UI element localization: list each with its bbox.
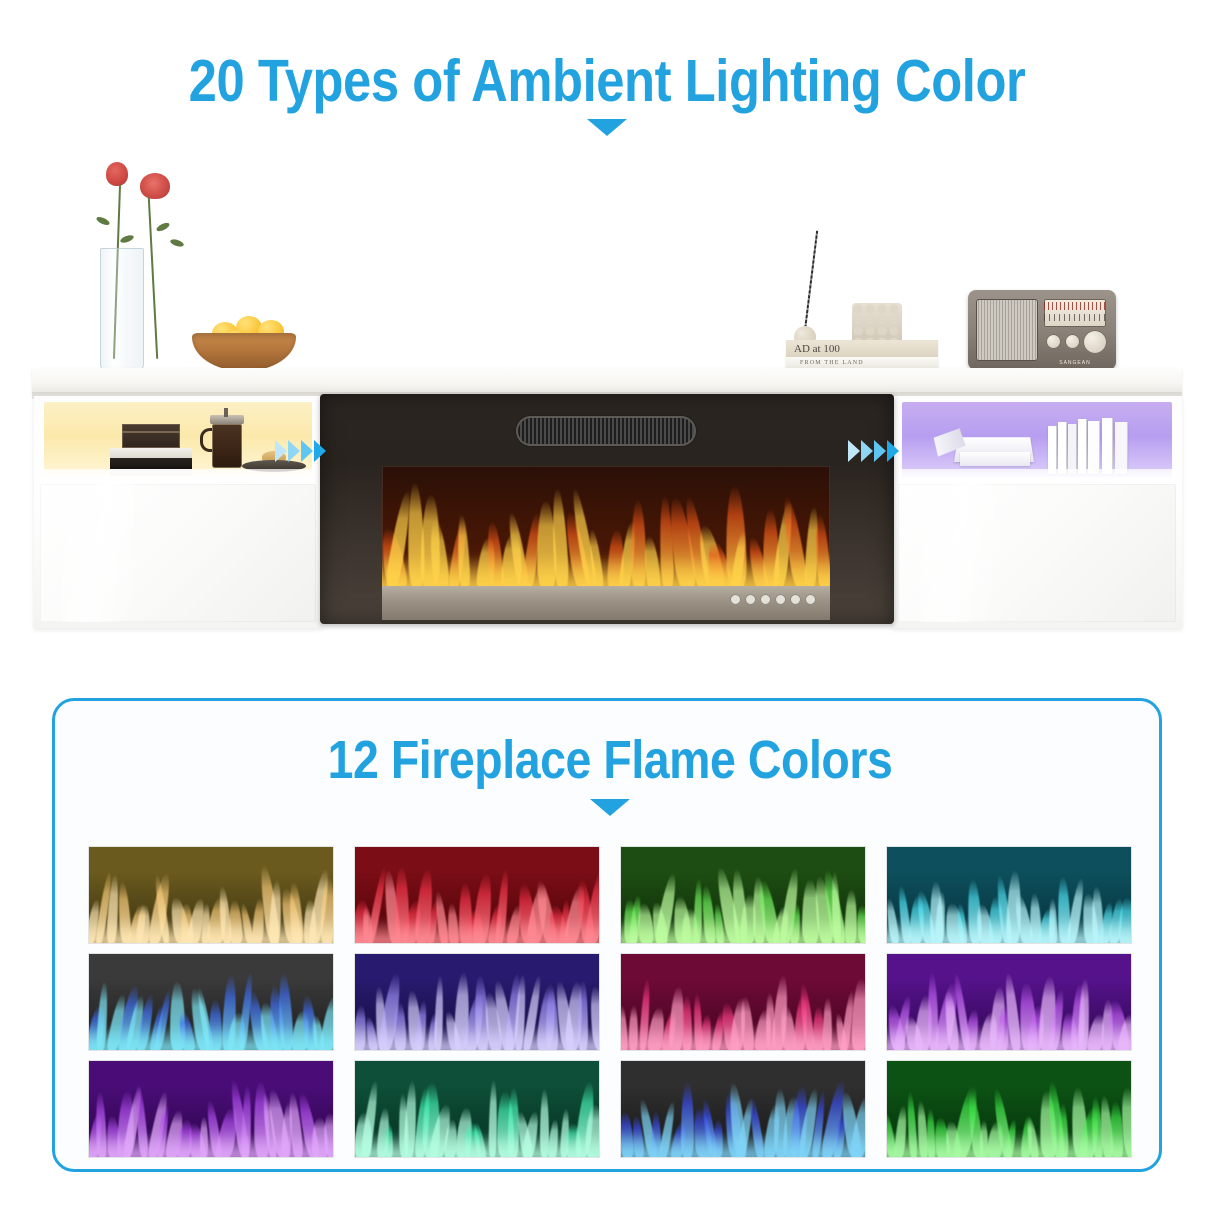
- glass-vase: [100, 248, 144, 370]
- radio-dial-scale-am: [1044, 314, 1106, 321]
- product-photo: AD at 100 FROM THE LAND SANGEAN: [0, 140, 1214, 660]
- led-arrows-right: [848, 440, 899, 462]
- fireplace-control-button[interactable]: [805, 594, 816, 605]
- cubby-left-led-shelf: [44, 402, 312, 478]
- page-title-ambient-lighting: 20 Types of Ambient Lighting Color: [85, 48, 1129, 114]
- decorative-storage-box: [122, 424, 180, 448]
- caret-down-icon: [590, 799, 630, 816]
- cabinet-left-door[interactable]: [40, 484, 316, 622]
- leaf-icon: [119, 234, 134, 244]
- electric-fireplace-insert[interactable]: [320, 394, 894, 624]
- flame-swatch: Red: [355, 847, 599, 943]
- chevron-right-icon: [314, 440, 326, 462]
- book-title-from-the-land: FROM THE LAND: [786, 357, 938, 366]
- leaf-icon: [169, 238, 184, 248]
- flame-swatch: Mint Green: [355, 1061, 599, 1157]
- radio-dial-scale-fm: [1044, 302, 1106, 310]
- radio-tuning-display: [1044, 299, 1106, 327]
- radio-knob-tuning[interactable]: [1083, 330, 1107, 354]
- rose-bloom-icon: [140, 173, 170, 199]
- flame-colors-panel: 12 Fireplace Flame Colors Amber GoldRedG…: [52, 698, 1162, 1172]
- rose-bud-icon: [106, 162, 128, 186]
- flame-animation: [621, 847, 865, 943]
- flame-animation: [887, 954, 1131, 1050]
- flame-base-glow: [621, 1026, 865, 1050]
- flame-animation: [887, 1061, 1131, 1157]
- fireplace-log-bed: [382, 586, 830, 620]
- leaf-icon: [155, 221, 170, 233]
- fireplace-flame-window: [382, 466, 830, 588]
- cabinet-right-door[interactable]: [898, 484, 1176, 622]
- led-arrows-left: [275, 440, 326, 462]
- cabinet-right: [892, 396, 1182, 628]
- chevron-right-icon: [275, 440, 287, 462]
- chevron-right-icon: [861, 440, 873, 462]
- fireplace-control-button[interactable]: [775, 594, 786, 605]
- flame-base-glow: [887, 1133, 1131, 1157]
- fireplace-control-button[interactable]: [730, 594, 741, 605]
- french-press-handle: [200, 428, 212, 452]
- chevron-right-icon: [301, 440, 313, 462]
- upright-book: [1058, 422, 1067, 474]
- cabinet-tabletop: [32, 368, 1182, 396]
- french-press-carafe: [212, 424, 242, 468]
- flame-base-glow: [887, 919, 1131, 943]
- leaf-icon: [95, 215, 110, 226]
- flame-swatch: Green: [621, 847, 865, 943]
- flame-swatch: Periwinkle: [355, 954, 599, 1050]
- flame-base-glow: [89, 1133, 333, 1157]
- flame-animation: [89, 847, 333, 943]
- cubby-left-book-stack: [110, 448, 192, 468]
- flame-animation: [355, 1061, 599, 1157]
- caret-down-icon: [587, 119, 627, 136]
- closed-book-stacked: [960, 452, 1030, 466]
- flame-swatch: Royal Blue: [621, 1061, 865, 1157]
- cabinet-left: [34, 396, 322, 628]
- flame-animation: [89, 954, 333, 1050]
- flame-base-glow: [887, 1026, 1131, 1050]
- flame-animation: [89, 1061, 333, 1157]
- flame-swatch: Blue: [89, 954, 333, 1050]
- flame-swatch: Bright Green: [887, 1061, 1131, 1157]
- upright-book: [1115, 422, 1128, 474]
- flame-animation: [621, 1061, 865, 1157]
- radio-knob-volume[interactable]: [1046, 334, 1061, 349]
- flame-swatch: Pink: [621, 954, 865, 1050]
- book-layer: [110, 469, 192, 476]
- flame-animation: [887, 847, 1131, 943]
- chevron-right-icon: [848, 440, 860, 462]
- book-layer: [110, 448, 192, 458]
- upright-book: [1088, 421, 1100, 474]
- upright-book: [1102, 418, 1113, 474]
- flame-animation: [382, 466, 830, 588]
- flame-swatch: Cyan: [887, 847, 1131, 943]
- flame-animation: [621, 954, 865, 1050]
- panel-title-flame-colors: 12 Fireplace Flame Colors: [88, 729, 1132, 791]
- flame-base-glow: [355, 1133, 599, 1157]
- flame-base-glow: [355, 919, 599, 943]
- flame-base-glow: [89, 1026, 333, 1050]
- chevron-right-icon: [288, 440, 300, 462]
- chevron-right-icon: [887, 440, 899, 462]
- flame-swatch: Violet: [89, 1061, 333, 1157]
- decor-book-stack: AD at 100 FROM THE LAND: [786, 340, 938, 370]
- cubby-right-led-shelf: [902, 402, 1172, 478]
- product-marketing-image: 20 Types of Ambient Lighting Color: [0, 0, 1214, 1214]
- flame-animation: [355, 847, 599, 943]
- fireplace-control-buttons[interactable]: [730, 594, 816, 605]
- radio-brand-label: SANGEAN: [1044, 360, 1106, 366]
- book-title-ad-at-100: AD at 100: [786, 340, 938, 355]
- flame-base-glow: [621, 919, 865, 943]
- radio-knob-tone[interactable]: [1065, 334, 1080, 349]
- wooden-bowl: [192, 333, 296, 371]
- upright-book: [1068, 424, 1077, 474]
- flame-swatch: Amber Gold: [89, 847, 333, 943]
- book-top: AD at 100: [786, 340, 938, 357]
- fireplace-control-button[interactable]: [745, 594, 756, 605]
- flame-swatch-grid: Amber GoldRedGreenCyanBluePeriwinklePink…: [89, 847, 1131, 1157]
- flame-base-glow: [355, 1026, 599, 1050]
- fireplace-control-button[interactable]: [790, 594, 801, 605]
- french-press-plunger: [224, 408, 228, 417]
- flame-base-glow: [621, 1133, 865, 1157]
- incense-stick-icon: [804, 231, 818, 330]
- flame-animation: [355, 954, 599, 1050]
- book-layer: [110, 458, 192, 469]
- radio-speaker-grille: [976, 299, 1038, 361]
- upright-book: [1078, 419, 1087, 474]
- fireplace-control-button[interactable]: [760, 594, 771, 605]
- upright-book: [1048, 426, 1057, 474]
- heater-vent-icon: [516, 416, 696, 446]
- flame-base-glow: [89, 919, 333, 943]
- flame-base-glow: [382, 555, 830, 588]
- chevron-right-icon: [874, 440, 886, 462]
- flame-swatch: Orchid Purple: [887, 954, 1131, 1050]
- rose-stem: [148, 197, 158, 359]
- decor-vintage-radio: SANGEAN: [968, 290, 1116, 370]
